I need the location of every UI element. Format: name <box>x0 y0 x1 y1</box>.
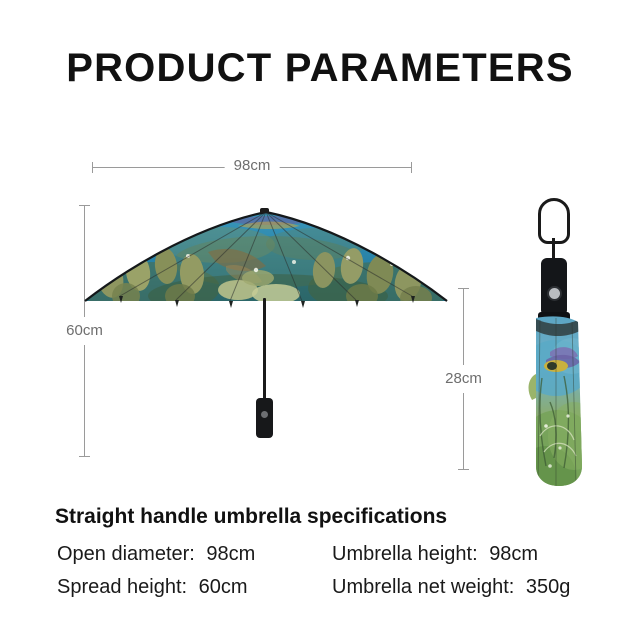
dimension-tick-left <box>92 162 93 173</box>
spec-umbrella-height: Umbrella height: 98cm <box>332 543 538 566</box>
page-title: PRODUCT PARAMETERS <box>0 46 640 91</box>
spec-label: Spread height: <box>57 576 187 598</box>
dimension-width-label: 98cm <box>225 156 280 176</box>
spec-value: 98cm <box>206 543 255 565</box>
spec-label: Open diameter: <box>57 543 195 565</box>
umbrella-canopy-icon <box>80 200 455 310</box>
dimension-tick-right <box>411 162 412 173</box>
open-umbrella-illustration <box>80 200 455 460</box>
folded-umbrella-illustration <box>516 198 600 488</box>
specifications-heading: Straight handle umbrella specifications <box>55 505 447 529</box>
spec-row: Spread height: 60cm Umbrella net weight:… <box>57 576 617 609</box>
spec-value: 60cm <box>199 576 248 598</box>
folded-canopy-sleeve-icon <box>516 316 600 488</box>
specifications-grid: Open diameter: 98cm Umbrella height: 98c… <box>57 543 617 609</box>
dimension-folded-height: 28cm <box>463 288 464 470</box>
product-parameters-page: PRODUCT PARAMETERS 98cm 60cm 28cm <box>0 0 640 637</box>
spec-value: 98cm <box>489 543 538 565</box>
umbrella-top-knob <box>260 208 269 213</box>
spec-open-diameter: Open diameter: 98cm <box>57 543 332 566</box>
umbrella-shaft <box>263 298 266 408</box>
umbrella-handle <box>256 398 273 438</box>
spec-label: Umbrella net weight: <box>332 576 514 598</box>
spec-value: 350g <box>526 576 571 598</box>
dimension-tick-bottom <box>458 469 469 470</box>
dimension-width: 98cm <box>92 167 412 168</box>
dimension-tick-top <box>458 288 469 289</box>
spec-label: Umbrella height: <box>332 543 478 565</box>
auto-open-button-icon <box>549 288 560 299</box>
spec-spread-height: Spread height: 60cm <box>57 576 332 599</box>
spec-net-weight: Umbrella net weight: 350g <box>332 576 570 599</box>
folded-handle <box>541 258 567 316</box>
spec-row: Open diameter: 98cm Umbrella height: 98c… <box>57 543 617 576</box>
